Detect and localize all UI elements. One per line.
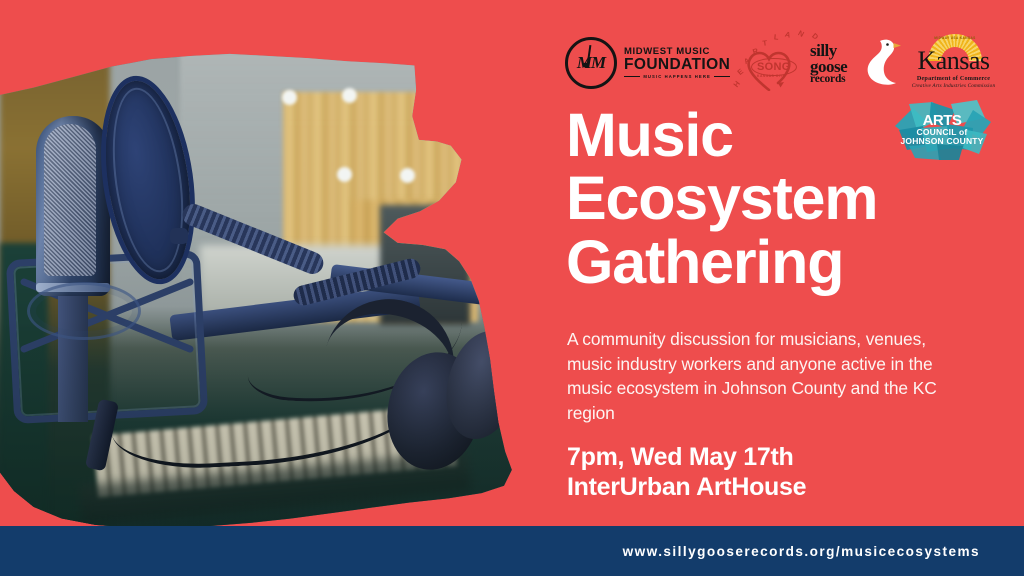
event-time-date: 7pm, Wed May 17th	[567, 442, 987, 472]
event-description: A community discussion for musicians, ve…	[567, 327, 975, 426]
heartland-arc-text: H E A R T L A N D	[739, 34, 801, 60]
goose-icon	[860, 37, 904, 87]
event-details: 7pm, Wed May 17th InterUrban ArtHouse	[567, 442, 987, 502]
headline-line-3: Gathering	[566, 231, 996, 294]
headline-line-1: Music	[566, 104, 996, 167]
sgr-wordmark: silly goose records	[810, 43, 847, 85]
footer-url-link[interactable]: www.sillygooserecords.org/musicecosystem…	[623, 544, 1024, 559]
mmf-tagline: MUSIC HAPPENS HERE	[624, 75, 730, 79]
page-title: Music Ecosystem Gathering	[566, 104, 996, 294]
mmf-monogram-circle-icon: MM	[565, 37, 617, 89]
mmf-line2: FOUNDATION	[624, 57, 730, 73]
sponsor-logo-row: MM MIDWEST MUSIC FOUNDATION MUSIC HAPPEN…	[565, 32, 1000, 94]
mmf-line1: MIDWEST MUSIC	[624, 47, 730, 57]
studio-photo-image	[0, 0, 560, 528]
mmf-wordmark: MIDWEST MUSIC FOUNDATION MUSIC HAPPENS H…	[624, 47, 730, 79]
kansas-sun-label: MIDWAY USA KANSAS	[931, 36, 979, 40]
heartland-song-sub: KANSAS CITY	[757, 74, 785, 78]
kansas-subline-2: Creative Arts Industries Commission	[907, 83, 1000, 89]
logo-silly-goose-records: silly goose records	[810, 38, 902, 88]
sgr-line2: goose	[810, 59, 847, 75]
kansas-subline-1: Department of Commerce	[907, 75, 1000, 82]
mmf-monogram-text: MM	[577, 53, 605, 73]
photo-shading	[0, 0, 560, 528]
studio-photo	[0, 0, 560, 528]
logo-kansas-dept-commerce: MIDWAY USA KANSAS Kansas Department of C…	[907, 34, 1000, 92]
footer-bar: www.sillygooserecords.org/musicecosystem…	[0, 526, 1024, 576]
headline-line-2: Ecosystem	[566, 167, 996, 230]
sgr-line3: records	[810, 74, 847, 85]
logo-midwest-music-foundation: MM MIDWEST MUSIC FOUNDATION MUSIC HAPPEN…	[565, 38, 713, 88]
kansas-wordmark: Kansas	[907, 48, 1000, 74]
logo-heartland-song: H E A R T L A N D SONG KANSAS CITY	[735, 32, 805, 94]
event-flyer: MM MIDWEST MUSIC FOUNDATION MUSIC HAPPEN…	[0, 0, 1024, 576]
event-venue: InterUrban ArtHouse	[567, 472, 987, 502]
